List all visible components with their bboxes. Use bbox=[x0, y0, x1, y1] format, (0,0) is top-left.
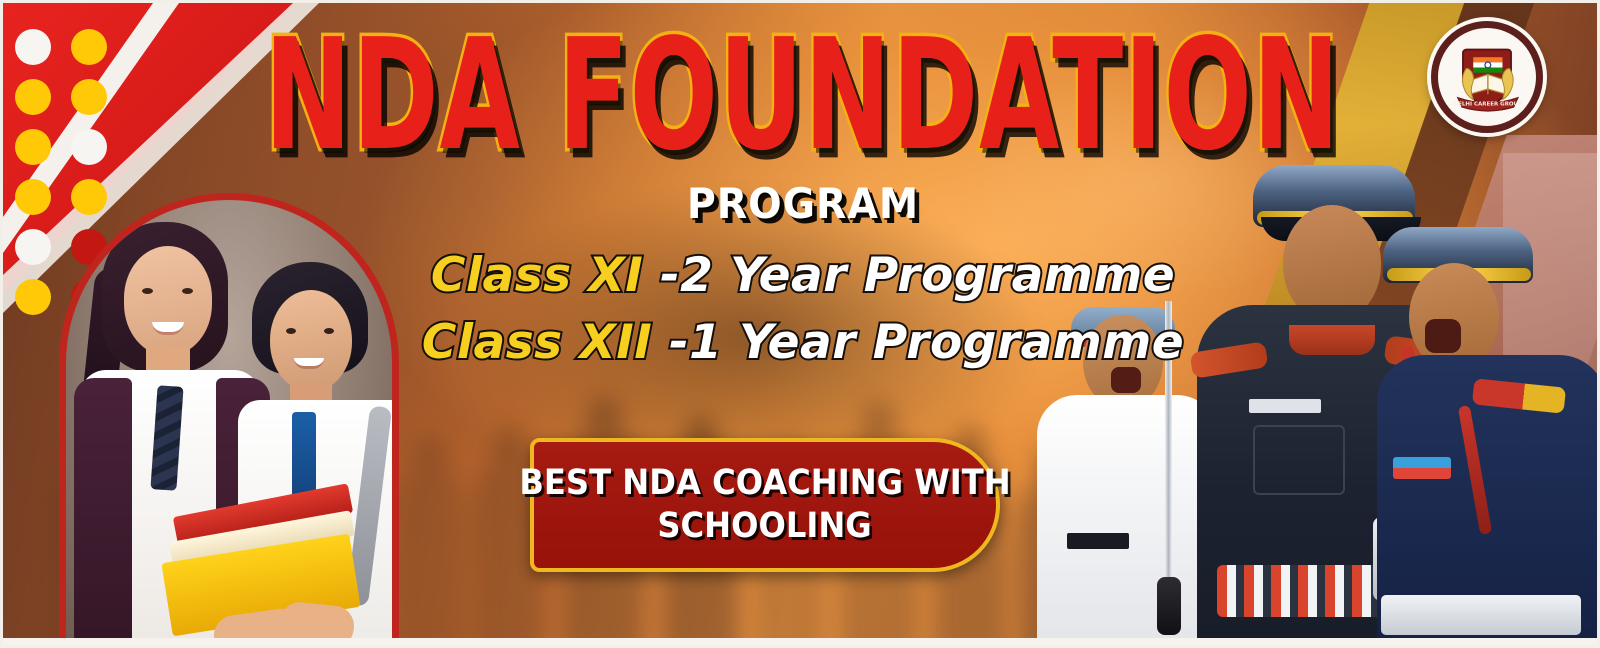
programme-line-2: Class XII -1 Year Programme bbox=[3, 310, 1600, 377]
title-block: NDA FOUNDATION bbox=[3, 17, 1600, 150]
right-cadet-belt bbox=[1381, 595, 1581, 635]
right-cadet-medal-ribbon bbox=[1393, 457, 1451, 479]
best-nda-coaching-badge[interactable]: BEST NDA COACHING WITH SCHOOLING bbox=[530, 438, 1000, 572]
programme-line-1: Class XI -2 Year Programme bbox=[3, 243, 1600, 310]
programme-line-1-class: Class XI bbox=[431, 248, 660, 303]
navy-cadet-nameplate bbox=[1067, 533, 1129, 549]
nda-foundation-banner: DELHI CAREER GROUP NDA FOUNDATION PROGRA… bbox=[0, 0, 1600, 648]
subtitle-program: PROGRAM bbox=[51, 179, 1555, 228]
badge-line-2: SCHOOLING bbox=[658, 505, 872, 548]
badge-line-1: BEST NDA COACHING WITH bbox=[519, 462, 1010, 505]
navy-cadet-torso bbox=[1037, 395, 1217, 645]
bottom-white-strip bbox=[3, 638, 1600, 645]
decor-dot-6 bbox=[15, 179, 51, 215]
programme-line-2-class: Class XII bbox=[422, 315, 669, 370]
ceremonial-sword-grip bbox=[1157, 577, 1181, 635]
army-cadet-nametag bbox=[1249, 399, 1321, 413]
programme-lines: Class XI -2 Year Programme Class XII -1 … bbox=[3, 243, 1600, 376]
programme-line-1-duration: -2 Year Programme bbox=[660, 248, 1175, 303]
programme-line-2-duration: -1 Year Programme bbox=[669, 315, 1184, 370]
army-cadet-chest-pocket bbox=[1253, 425, 1345, 495]
page-title: NDA FOUNDATION bbox=[265, 17, 1341, 173]
student-girl-vest-left bbox=[74, 378, 132, 648]
